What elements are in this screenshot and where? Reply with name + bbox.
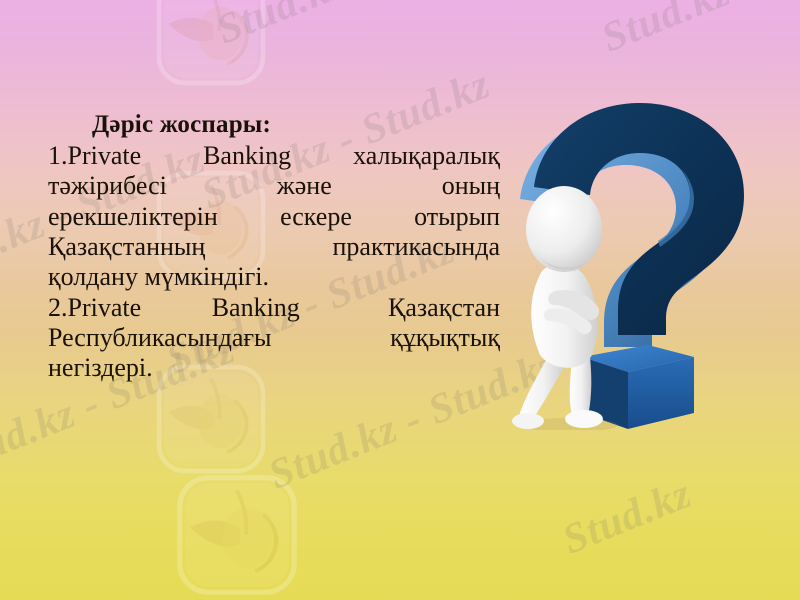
plan-line: негіздері. [48,353,500,383]
plan-line: Қазақстанның практикасында [48,232,500,262]
slide-text-block: Дәріс жоспары: 1.Private Banking халықар… [48,110,500,383]
presentation-slide: Stud.kz - Stud.kz Stud.kz Stud.kz - Stud… [0,0,800,600]
watermark-text: Stud.kz [595,0,737,63]
plan-line: 1.Private Banking халықаралық [48,141,500,171]
plan-line: қолдану мүмкіндігі. [48,262,500,292]
plan-items: 1.Private Banking халықаралық тәжірибесі… [48,141,500,383]
watermark-text: Stud.kz [556,470,698,565]
plan-title: Дәріс жоспары: [48,110,500,139]
plan-line: ерекшеліктерін ескере отырып [48,202,500,232]
stud-kz-bird-logo-icon [152,0,270,90]
watermark-text: Stud.kz - Stud.kz [210,0,512,55]
question-mark-illustration [498,95,800,430]
figure-3d [512,186,603,429]
stud-kz-bird-logo-icon [172,470,290,588]
plan-line: Республикасындағы құқықтық [48,323,500,353]
plan-line: 2.Private Banking Қазақстан [48,293,500,323]
plan-line: тәжірибесі және оның [48,171,500,201]
